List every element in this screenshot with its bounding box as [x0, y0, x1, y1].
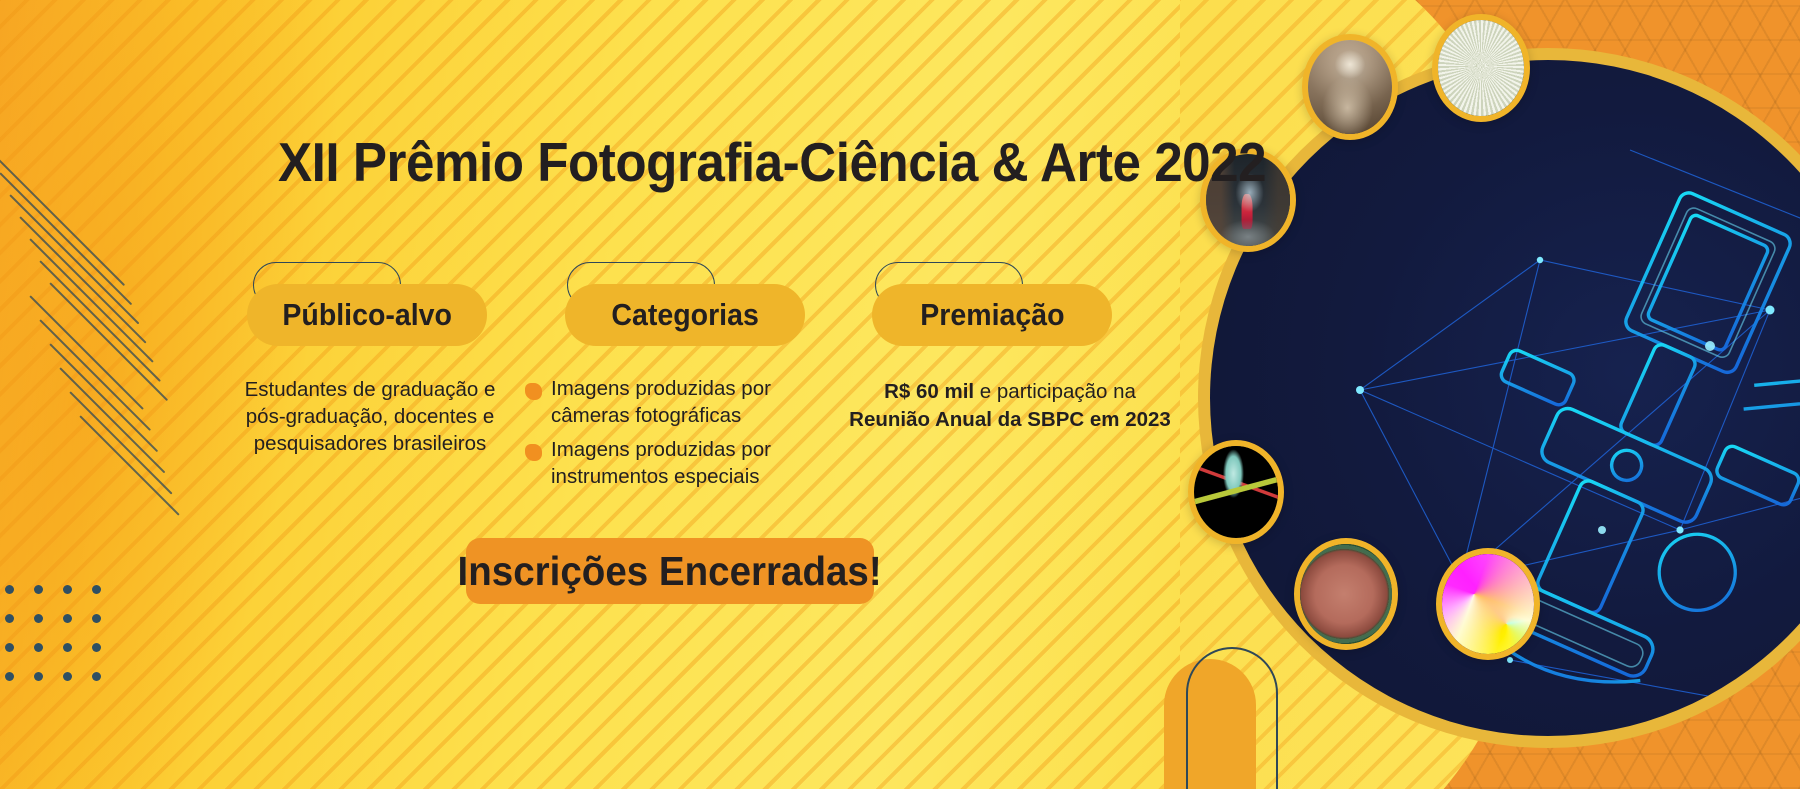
- prize-line-1: R$ 60 mil e participação na: [840, 378, 1180, 406]
- publico-alvo-body: Estudantes de graduação e pós-graduação,…: [205, 376, 535, 457]
- heading-pill-categorias: Categorias: [525, 262, 855, 372]
- categoria-2-line-1: Imagens produzidas por: [551, 438, 771, 461]
- heading-pill-solid: Público-alvo: [247, 284, 487, 346]
- categoria-2-line-2: instrumentos especiais: [551, 465, 760, 488]
- publico-alvo-line-1: Estudantes de graduação e: [211, 376, 529, 403]
- column-categorias: Categorias Imagens produzidas por câmera…: [525, 262, 855, 499]
- prize-amount: R$ 60 mil: [884, 380, 974, 403]
- prize-event: Reunião Anual da SBPC em 2023: [849, 408, 1171, 431]
- publico-alvo-line-2: pós-graduação, docentes e: [211, 403, 529, 430]
- prize-line-2: Reunião Anual da SBPC em 2023: [840, 406, 1180, 434]
- banner-content: XII Prêmio Fotografia-Ciência & Arte 202…: [0, 0, 1800, 789]
- column-publico-alvo: Público-alvo Estudantes de graduação e p…: [205, 262, 535, 457]
- categorias-bullet-list: Imagens produzidas por câmeras fotográfi…: [525, 376, 855, 491]
- bullet-square-icon: [525, 383, 542, 400]
- registration-closed-button[interactable]: Inscrições Encerradas!: [466, 538, 874, 604]
- bullet-square-icon: [525, 444, 542, 461]
- info-columns: Público-alvo Estudantes de graduação e p…: [0, 262, 1180, 522]
- heading-label-categorias: Categorias: [611, 297, 758, 333]
- premiacao-body: R$ 60 mil e participação na Reunião Anua…: [840, 378, 1180, 434]
- page-title: XII Prêmio Fotografia-Ciência & Arte 202…: [278, 130, 1266, 194]
- prize-connector: e participação na: [974, 380, 1136, 403]
- heading-label-premiacao: Premiação: [920, 297, 1064, 333]
- registration-closed-label: Inscrições Encerradas!: [458, 548, 882, 595]
- heading-pill-solid: Premiação: [872, 284, 1112, 346]
- categoria-1-line-2: câmeras fotográficas: [551, 404, 741, 427]
- list-item: Imagens produzidas por câmeras fotográfi…: [525, 376, 855, 429]
- categoria-2-text: Imagens produzidas por instrumentos espe…: [551, 437, 771, 490]
- heading-label-publico-alvo: Público-alvo: [282, 297, 452, 333]
- heading-pill-premiacao: Premiação: [840, 262, 1180, 372]
- categoria-1-line-1: Imagens produzidas por: [551, 377, 771, 400]
- publico-alvo-line-3: pesquisadores brasileiros: [211, 430, 529, 457]
- heading-pill-solid: Categorias: [565, 284, 805, 346]
- column-premiacao: Premiação R$ 60 mil e participação na Re…: [840, 262, 1180, 434]
- list-item: Imagens produzidas por instrumentos espe…: [525, 437, 855, 490]
- heading-pill-publico-alvo: Público-alvo: [205, 262, 535, 372]
- categoria-1-text: Imagens produzidas por câmeras fotográfi…: [551, 376, 771, 429]
- promo-banner: XII Prêmio Fotografia-Ciência & Arte 202…: [0, 0, 1800, 789]
